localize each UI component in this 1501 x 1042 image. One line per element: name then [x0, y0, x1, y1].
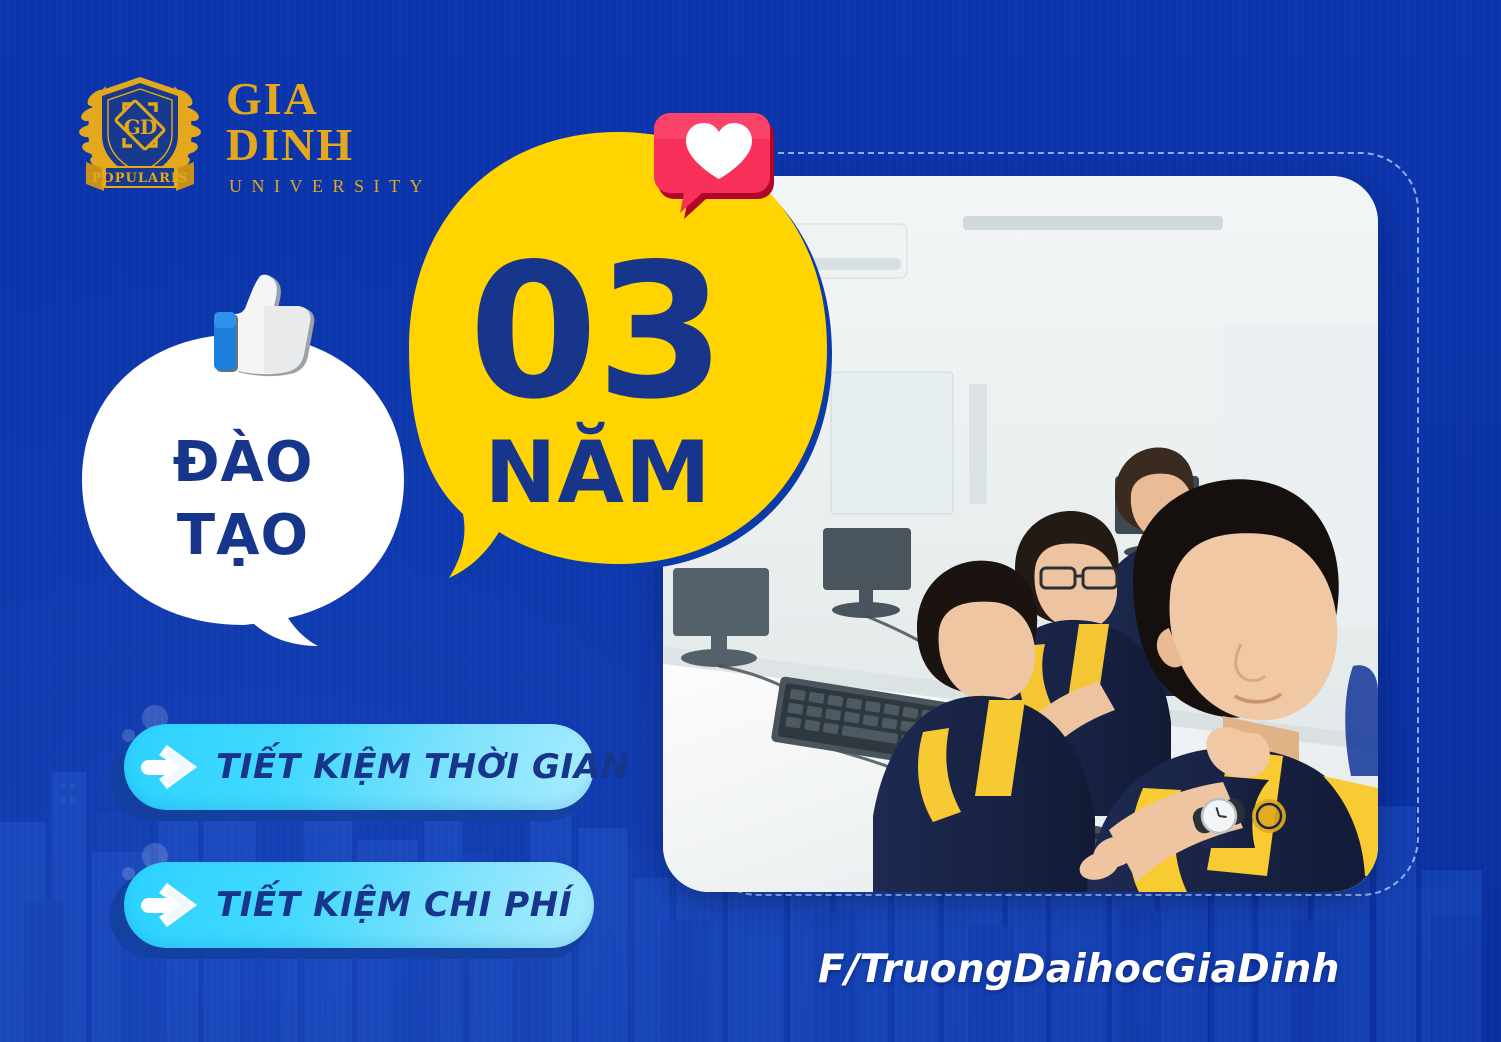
training-line-2: TẠO — [78, 508, 408, 564]
years-label: NĂM — [380, 430, 816, 516]
benefit-pill-2-label: TIẾT KIỆM CHI PHÍ — [216, 885, 572, 925]
benefit-pill-2[interactable]: TIẾT KIỆM CHI PHÍ — [124, 862, 594, 948]
training-bubble: ĐÀO TẠO — [78, 330, 408, 650]
arrow-right-icon — [124, 741, 216, 793]
crest-motto: POPULARIS — [92, 171, 189, 186]
benefit-pill-1-label: TIẾT KIỆM THỜI GIAN — [216, 747, 630, 787]
crest-shield-icon: GD POPULARIS — [72, 64, 208, 200]
svg-text:GD: GD — [124, 115, 157, 139]
training-line-1: ĐÀO — [78, 435, 408, 491]
poster-canvas: GD POPULARIS GIA DINH UNIVERSITY — [0, 0, 1501, 1042]
years-number: 03 — [380, 248, 812, 415]
heart-reaction-icon — [652, 103, 780, 221]
arrow-right-icon — [124, 879, 216, 931]
thumbs-up-icon — [214, 272, 324, 384]
university-logo: GD POPULARIS GIA DINH UNIVERSITY — [72, 62, 422, 202]
facebook-handle[interactable]: F/TruongDaihocGiaDinh — [818, 947, 1340, 992]
benefit-pill-1[interactable]: TIẾT KIỆM THỜI GIAN — [124, 724, 594, 810]
